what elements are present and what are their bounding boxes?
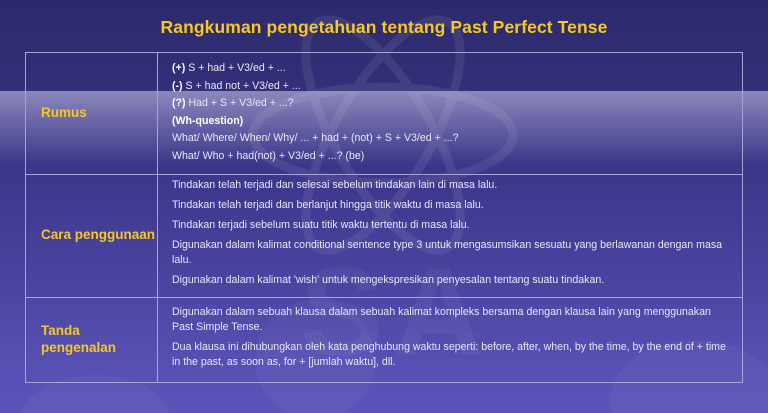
formula-subheading: (Wh-question) (172, 114, 730, 129)
summary-table: Rumus (+) S + had + V3/ed + ... (-) S + … (25, 52, 743, 383)
usage-line: Digunakan dalam kalimat conditional sent… (172, 238, 730, 268)
table-row: Tanda pengenalan Digunakan dalam sebuah … (26, 298, 742, 382)
row-content-cara-penggunaan: Tindakan telah terjadi dan selesai sebel… (158, 175, 742, 296)
formula-marker-positive: (+) (172, 62, 185, 74)
page-title: Rangkuman pengetahuan tentang Past Perfe… (0, 18, 768, 37)
usage-line: Digunakan dalam kalimat 'wish' untuk men… (172, 273, 730, 288)
usage-line: Tindakan telah terjadi dan berlanjut hin… (172, 198, 730, 213)
formula-text: S + had not + V3/ed + ... (183, 80, 301, 92)
marker-line: Dua klausa ini dihubungkan oleh kata pen… (172, 340, 730, 370)
formula-text: S + had + V3/ed + ... (185, 62, 285, 74)
formula-marker-negative: (-) (172, 80, 183, 92)
usage-line: Tindakan telah terjadi dan selesai sebel… (172, 178, 730, 193)
row-label-tanda-pengenalan: Tanda pengenalan (26, 298, 158, 382)
table-row: Rumus (+) S + had + V3/ed + ... (-) S + … (26, 53, 742, 175)
formula-line: (?) Had + S + V3/ed + ...? (172, 96, 730, 111)
slide-root: SA Rangkuman pengetahuan tentang Past Pe… (0, 0, 768, 413)
formula-line: What/ Who + had(not) + V3/ed + ...? (be) (172, 149, 730, 164)
formula-text: Had + S + V3/ed + ...? (186, 97, 294, 109)
formula-line: (-) S + had not + V3/ed + ... (172, 79, 730, 94)
row-label-cara-penggunaan: Cara penggunaan (26, 175, 158, 296)
row-label-rumus: Rumus (26, 53, 158, 174)
table-row: Cara penggunaan Tindakan telah terjadi d… (26, 175, 742, 297)
formula-line: (+) S + had + V3/ed + ... (172, 61, 730, 76)
marker-line: Digunakan dalam sebuah klausa dalam sebu… (172, 305, 730, 335)
row-content-rumus: (+) S + had + V3/ed + ... (-) S + had no… (158, 53, 742, 174)
formula-marker-question: (?) (172, 97, 186, 109)
row-content-tanda-pengenalan: Digunakan dalam sebuah klausa dalam sebu… (158, 298, 742, 382)
formula-line: What/ Where/ When/ Why/ ... + had + (not… (172, 131, 730, 146)
usage-line: Tindakan terjadi sebelum suatu titik wak… (172, 218, 730, 233)
